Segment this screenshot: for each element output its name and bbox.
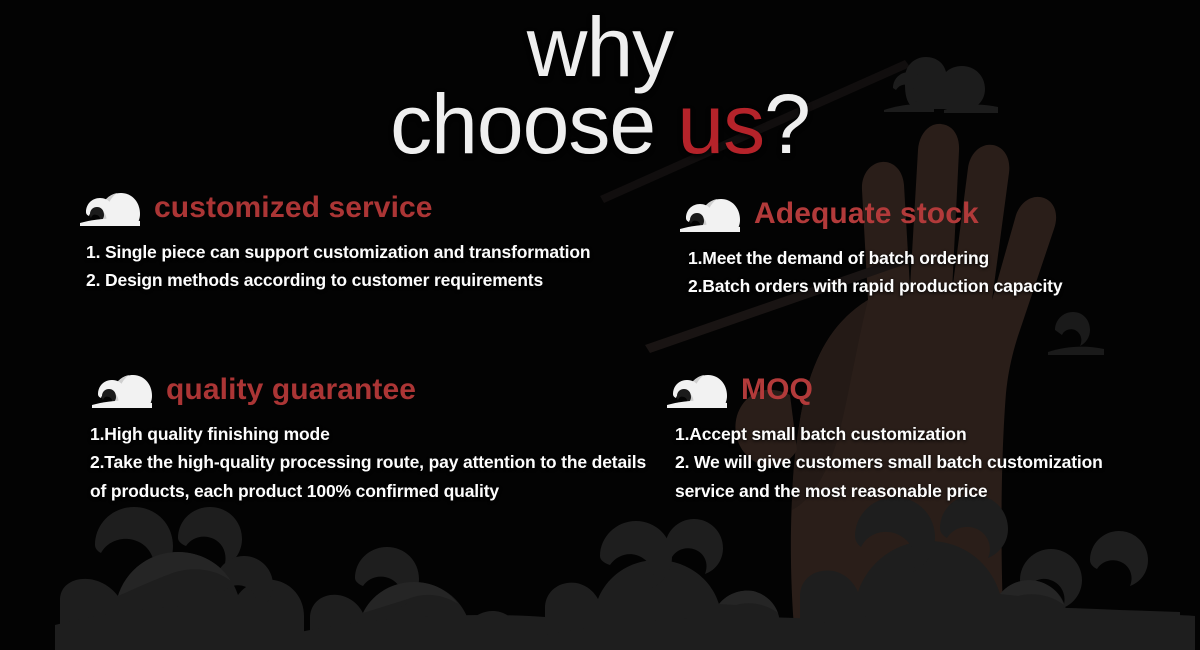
feature-body: 1.Meet the demand of batch ordering 2.Ba…	[678, 244, 1200, 301]
feature-header: customized service	[78, 190, 638, 226]
feature-header: Adequate stock	[678, 196, 1200, 232]
page-title: why choose us?	[0, 8, 1200, 166]
title-question-mark: ?	[764, 77, 810, 171]
title-choose-text: choose	[390, 77, 677, 171]
feature-line: 2.Batch orders with rapid production cap…	[688, 272, 1200, 300]
chinese-cloud-wave-border	[55, 495, 1195, 650]
feature-line: 1.High quality finishing mode	[90, 420, 650, 448]
cloud-swirl-icon	[78, 190, 142, 226]
feature-line: 1. Single piece can support customizatio…	[86, 238, 638, 266]
feature-customized-service: customized service 1. Single piece can s…	[78, 190, 638, 295]
feature-quality-guarantee: quality guarantee 1.High quality finishi…	[90, 372, 650, 505]
why-choose-us-banner: why choose us? customized service 1. Sin…	[0, 0, 1200, 650]
feature-body: 1. Single piece can support customizatio…	[78, 238, 638, 295]
feature-title: customized service	[154, 191, 433, 225]
cloud-swirl-icon	[90, 372, 154, 408]
feature-line: 1.Accept small batch customization	[675, 420, 1155, 448]
cloud-swirl-icon	[665, 372, 729, 408]
title-line-choose-us: choose us?	[0, 82, 1200, 166]
feature-line: 2. We will give customers small batch cu…	[675, 448, 1155, 505]
feature-line: 2.Take the high-quality processing route…	[90, 448, 650, 505]
feature-body: 1.Accept small batch customization 2. We…	[665, 420, 1155, 505]
title-us-text: us	[677, 77, 764, 171]
feature-line: 1.Meet the demand of batch ordering	[688, 244, 1200, 272]
feature-title: Adequate stock	[754, 197, 979, 231]
feature-title: MOQ	[741, 373, 813, 407]
feature-moq: MOQ 1.Accept small batch customization 2…	[665, 372, 1200, 505]
chinese-cloud-motif-right	[1048, 312, 1104, 355]
feature-header: MOQ	[665, 372, 1200, 408]
feature-header: quality guarantee	[90, 372, 650, 408]
cloud-border-highlights	[118, 552, 1064, 613]
feature-line: 2. Design methods according to customer …	[86, 266, 638, 294]
feature-title: quality guarantee	[166, 373, 416, 407]
cloud-swirl-icon	[678, 196, 742, 232]
feature-adequate-stock: Adequate stock 1.Meet the demand of batc…	[678, 196, 1200, 301]
feature-body: 1.High quality finishing mode 2.Take the…	[90, 420, 650, 505]
